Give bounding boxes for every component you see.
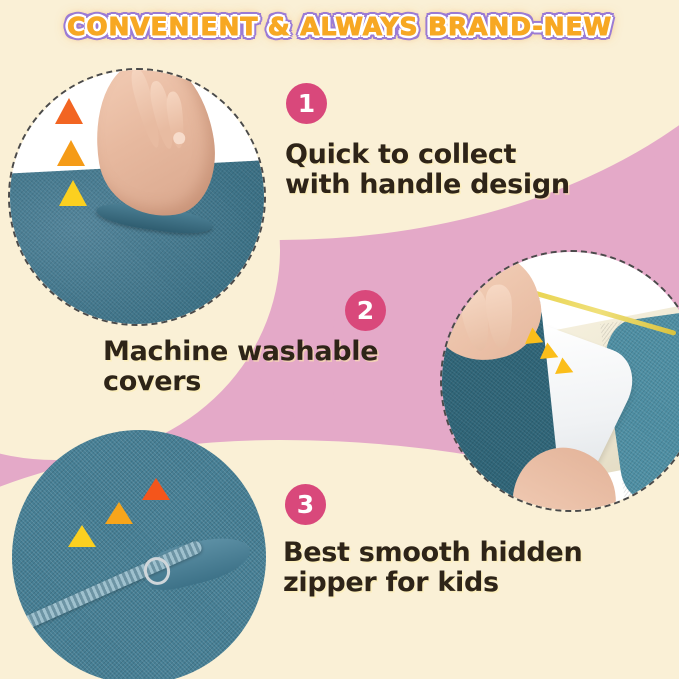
arrow-up-icon — [105, 502, 133, 524]
feature-caption-2: Machine washable covers — [103, 337, 378, 397]
infographic-canvas: CONVENIENT & ALWAYS BRAND-NEW — [0, 0, 679, 679]
arrow-up-icon — [68, 525, 96, 547]
feature-caption-1: Quick to collect with handle design — [285, 140, 570, 200]
feature-photo-1-image — [10, 70, 264, 324]
feature-photo-1 — [8, 68, 266, 326]
feature-photo-3 — [10, 428, 268, 679]
feature-photo-2-image — [442, 252, 679, 510]
feature-caption-3: Best smooth hidden zipper for kids — [283, 538, 582, 598]
arrow-up-icon — [55, 98, 83, 124]
feature-photo-2 — [440, 250, 679, 512]
arrow-up-icon — [57, 140, 85, 166]
feature-photo-3-image — [12, 430, 266, 679]
headline-text: CONVENIENT & ALWAYS BRAND-NEW — [67, 12, 612, 41]
step-badge-1: 1 — [286, 83, 327, 124]
arrow-up-icon — [142, 478, 170, 500]
step-badge-2: 2 — [345, 290, 386, 331]
photo1-fingernail — [173, 131, 186, 145]
headline-banner: CONVENIENT & ALWAYS BRAND-NEW — [0, 12, 679, 41]
step-badge-3: 3 — [285, 484, 326, 525]
photo2-finger — [484, 284, 514, 350]
arrow-up-icon — [59, 180, 87, 206]
